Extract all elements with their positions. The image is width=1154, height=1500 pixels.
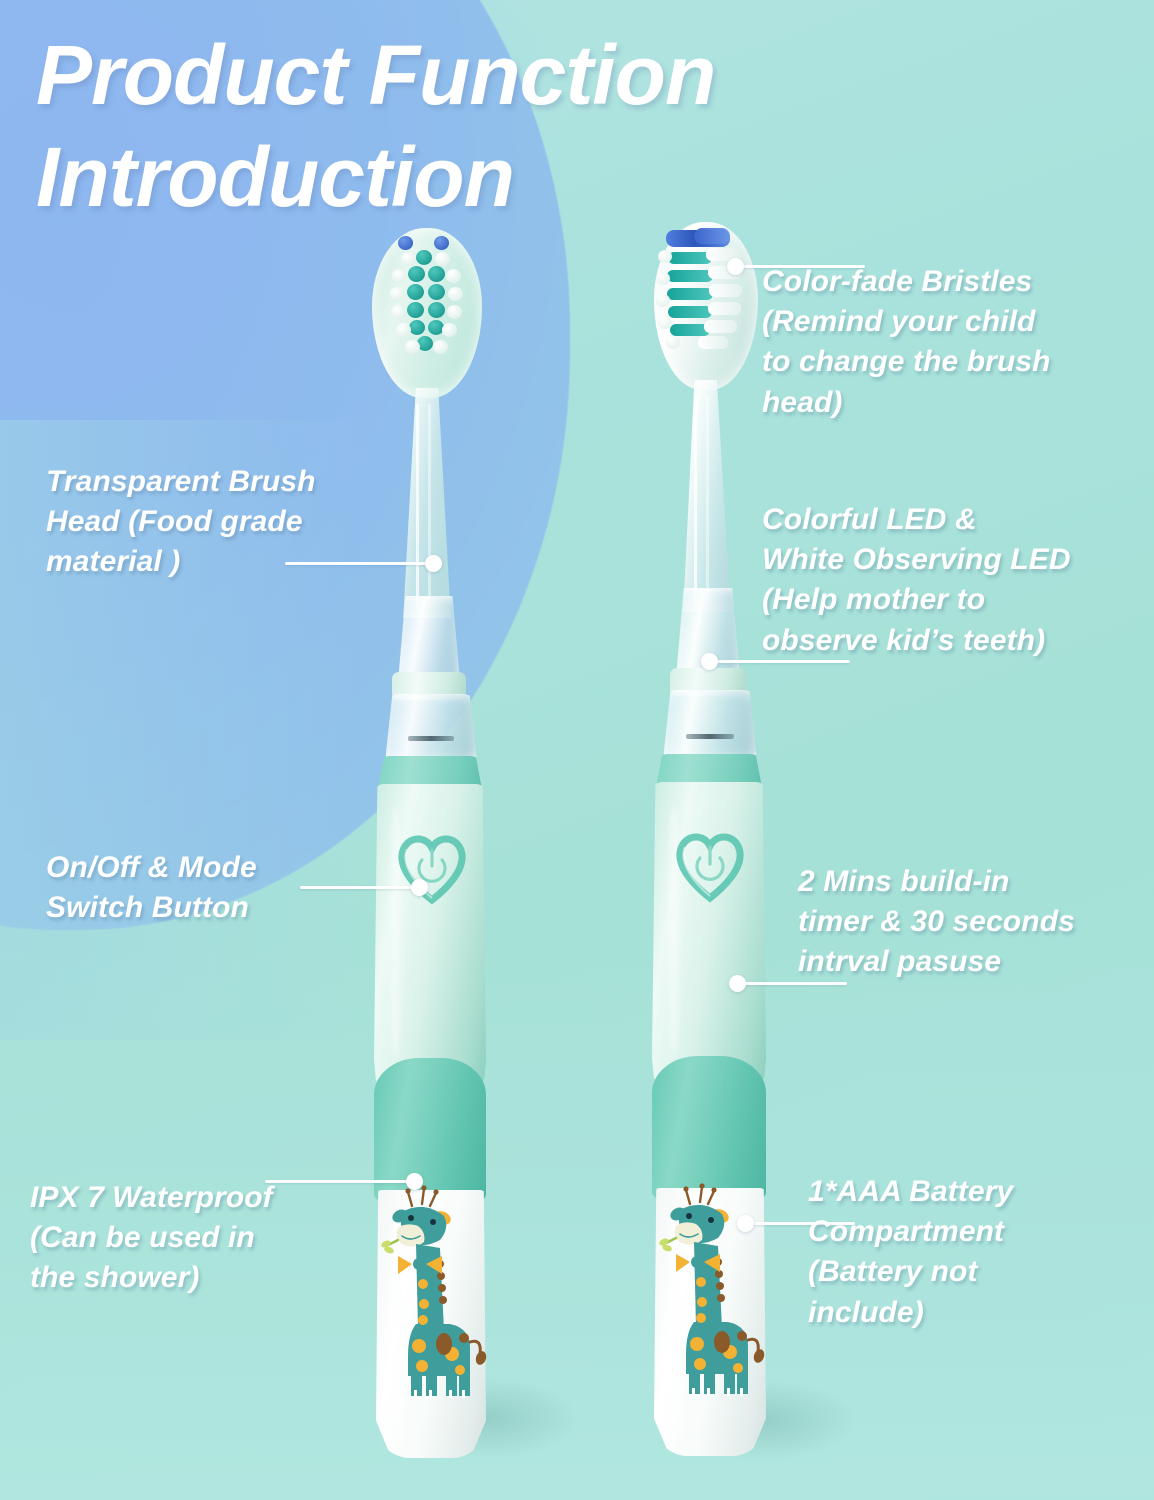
neck-highlight: [428, 404, 431, 609]
bristle-row-white: [709, 284, 742, 297]
callout-built-in-timer: 2 Mins build-in timer & 30 seconds intrv…: [798, 862, 1148, 983]
left-giraffe-decal: [378, 1178, 488, 1403]
left-observing-led-window: [398, 596, 460, 682]
callout-ipx7-waterproof: IPX 7 Waterproof (Can be used in the sho…: [30, 1178, 380, 1299]
callout-power-mode-button: On/Off & Mode Switch Button: [46, 848, 386, 928]
right-brush-head: [654, 222, 758, 390]
bristle-tuft-indicator: [398, 236, 413, 250]
bristle-tuft-white: [435, 252, 450, 266]
bristle-tuft-white: [433, 340, 448, 354]
leader-dot-color-fade-bristles: [727, 258, 744, 275]
right-giraffe-decal: [656, 1176, 766, 1401]
bristle-tuft-white: [390, 287, 405, 301]
leader-dot-battery-compartment: [737, 1215, 754, 1232]
bristle-tuft-teal: [428, 284, 445, 300]
bristle-tuft-white: [656, 294, 670, 307]
bristle-tuft-white: [396, 323, 411, 337]
bristle-tuft-white: [446, 269, 461, 283]
giraffe-illustration: [380, 1185, 488, 1398]
right-led-contacts: [686, 734, 734, 739]
neck-highlight: [706, 396, 709, 604]
left-power-mode-button[interactable]: [392, 824, 472, 908]
callout-battery-compartment: 1*AAA Battery Compartment (Battery not i…: [808, 1172, 1138, 1333]
bristle-tuft-white: [442, 323, 457, 337]
right-power-mode-button[interactable]: [670, 822, 750, 906]
power-icon: [419, 850, 445, 881]
bristle-row-white: [704, 320, 737, 333]
leader-dot-power-mode-button: [411, 879, 428, 896]
bristle-tuft-white: [405, 340, 420, 354]
left-led-contacts: [408, 736, 454, 741]
leader-dot-colorful-led: [701, 653, 718, 670]
callout-colorful-led: Colorful LED & White Observing LED (Help…: [762, 500, 1152, 661]
bristle-tuft-teal: [407, 284, 424, 300]
bristle-tuft-teal: [407, 302, 424, 318]
bristle-tuft-teal: [428, 302, 445, 318]
bristle-tuft-indicator: [434, 236, 449, 250]
bristle-tuft-teal: [428, 266, 445, 282]
bristle-row-teal: [668, 306, 712, 318]
bristle-tuft-white: [658, 316, 672, 329]
leader-dot-ipx7-waterproof: [406, 1173, 423, 1190]
bristle-tuft-white: [447, 305, 462, 319]
bristle-tuft-white: [658, 250, 672, 263]
callout-transparent-brush-head: Transparent Brush Head (Food grade mater…: [46, 462, 406, 583]
product-infographic: Product Function Introduction: [0, 0, 1154, 1500]
bristle-tuft-white: [401, 252, 416, 266]
bristle-tuft-white: [656, 272, 670, 285]
right-colorful-led-dome: [663, 690, 757, 760]
bristle-tuft-white: [391, 305, 406, 319]
bristle-tuft-white: [392, 269, 407, 283]
callout-color-fade-bristles: Color-fade Bristles (Remind your child t…: [762, 262, 1142, 423]
neck-highlight: [694, 396, 697, 604]
bristle-row-white: [708, 302, 741, 315]
leader-dot-built-in-timer: [729, 975, 746, 992]
bristle-tuft-white: [448, 287, 463, 301]
bristle-row-white: [698, 336, 728, 349]
bristle-row-teal: [667, 288, 713, 300]
bristle-row-teal: [667, 270, 713, 282]
neck-highlight: [416, 404, 419, 609]
page-title: Product Function Introduction: [36, 24, 1016, 229]
bristle-tuft-teal: [416, 250, 432, 265]
bristle-tuft-teal: [408, 266, 425, 282]
leader-dot-transparent-brush-head: [425, 555, 442, 572]
left-brush-head: [372, 228, 482, 398]
bristle-tuft-white: [666, 336, 680, 349]
bristle-row-indicator: [694, 228, 730, 244]
power-icon: [697, 847, 723, 879]
bristle-tuft-teal: [409, 320, 425, 335]
left-colorful-led-dome: [385, 694, 477, 762]
